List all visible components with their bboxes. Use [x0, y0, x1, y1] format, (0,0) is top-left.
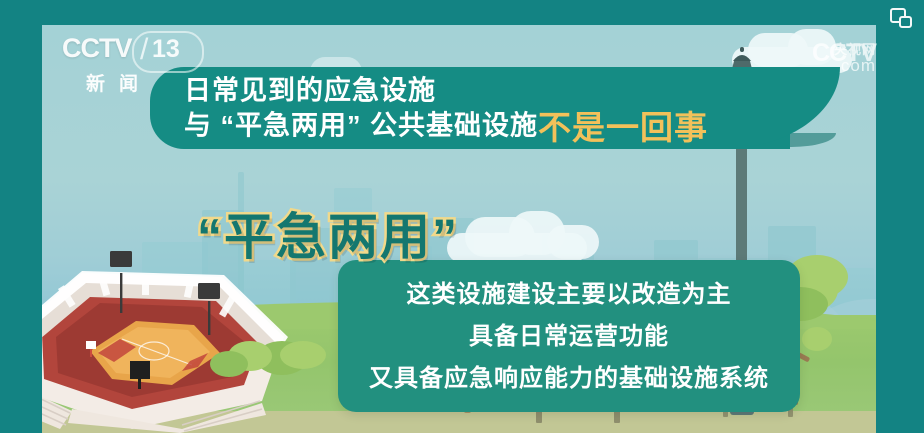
ribbon-line-2: 与 “平急两用” 公共基础设施不是一回事: [184, 108, 814, 143]
page-title: “平急两用”: [197, 197, 459, 269]
ribbon-line-1: 日常见到的应急设施: [184, 73, 814, 108]
headline-ribbon: 日常见到的应急设施 与 “平急两用” 公共基础设施不是一回事: [150, 67, 830, 149]
watermark-cn-name: 央视网: [834, 42, 876, 57]
cctv-wordmark: CCTV: [62, 33, 132, 64]
ribbon-line-2-highlight: 不是一回事: [538, 109, 708, 146]
shrub: [210, 351, 248, 377]
channel-name: 新闻: [86, 69, 152, 96]
video-player: CCTV / 13 新闻 CCTV 央视网 com 日常见到的应急设施 与 “: [0, 0, 924, 433]
description-line: 这类设施建设主要以改造为主: [338, 274, 800, 316]
logo-slash: /: [140, 33, 148, 67]
description-panel: 这类设施建设主要以改造为主 具备日常运营功能 又具备应急响应能力的基础设施系统: [338, 260, 800, 412]
watermark-domain-group: 央视网 com: [834, 42, 876, 73]
picture-in-picture-icon[interactable]: [890, 8, 912, 28]
description-line: 又具备应急响应能力的基础设施系统: [338, 358, 800, 400]
description-lines: 这类设施建设主要以改造为主 具备日常运营功能 又具备应急响应能力的基础设施系统: [338, 274, 800, 400]
shrub: [280, 341, 326, 369]
watermark: CCTV 央视网 com: [812, 39, 876, 68]
right-edge-strip: [876, 25, 892, 433]
video-frame: CCTV / 13 新闻 CCTV 央视网 com 日常见到的应急设施 与 “: [42, 25, 892, 433]
ribbon-text-block: 日常见到的应急设施 与 “平急两用” 公共基础设施不是一回事: [184, 73, 814, 143]
channel-number: 13: [152, 35, 180, 64]
description-line: 具备日常运营功能: [338, 316, 800, 358]
ribbon-line-1-text: 日常见到的应急设施: [184, 75, 436, 105]
watermark-domain: com: [834, 58, 876, 73]
channel-logo: CCTV / 13 新闻: [62, 33, 202, 95]
ribbon-line-2-text: 与 “平急两用” 公共基础设施: [184, 110, 538, 140]
